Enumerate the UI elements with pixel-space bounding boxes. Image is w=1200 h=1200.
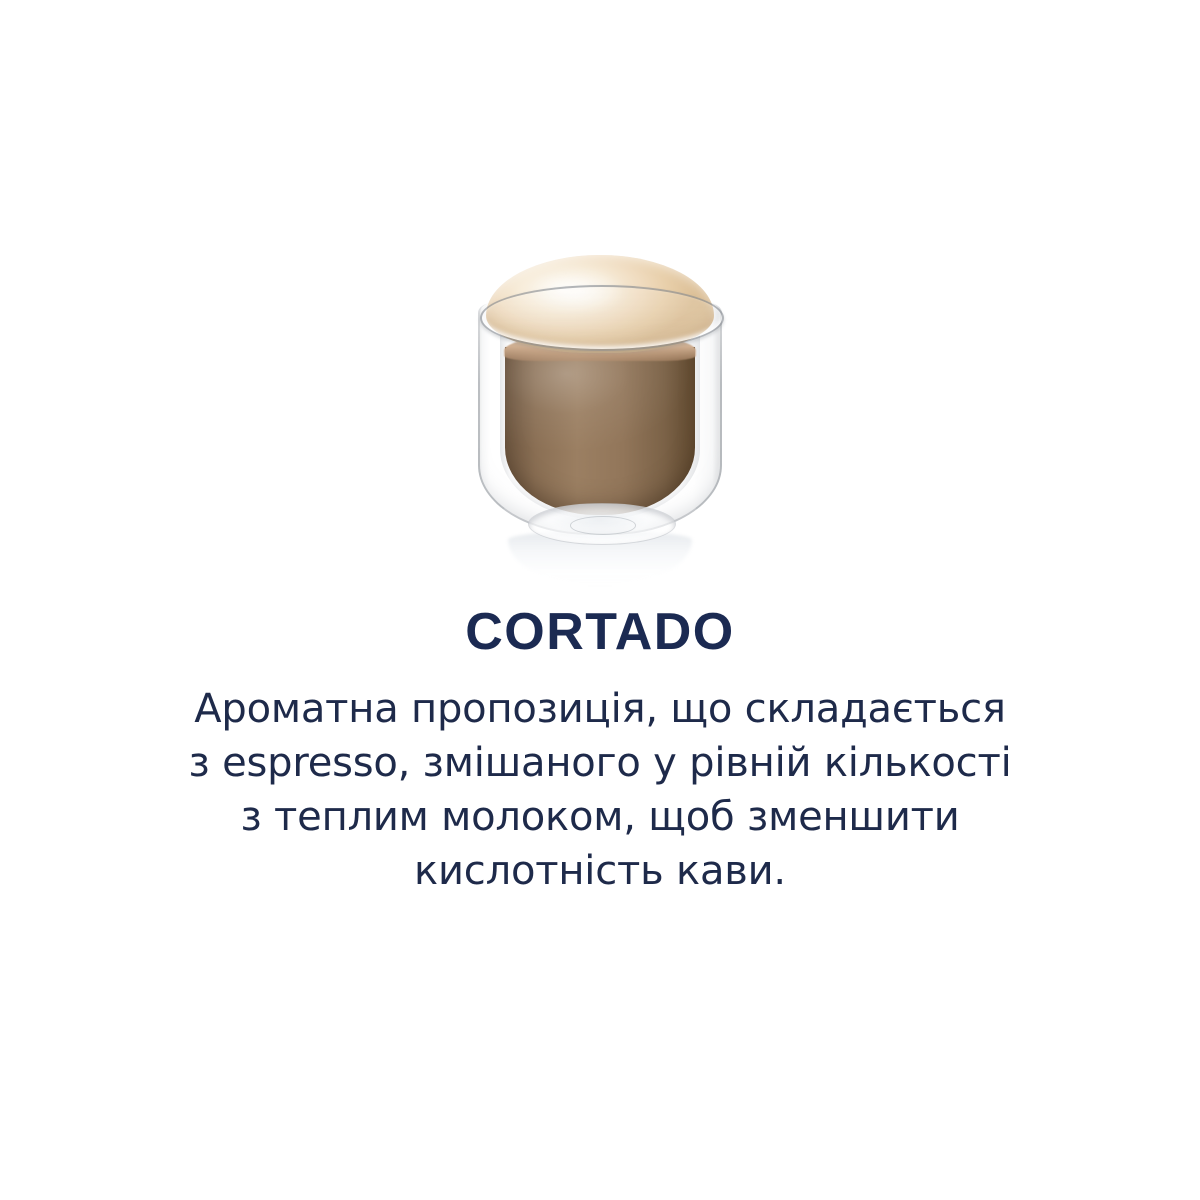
page-title: CORTADO [0,600,1200,664]
description-line-1: Ароматна пропозиція, що складається [0,682,1200,736]
description-line-2: з espresso, змішаного у рівній кількості [0,736,1200,790]
description-line-4: кислотність кави. [0,844,1200,898]
cortado-glass-cup [472,255,728,585]
glass-rim [480,285,724,351]
coffee-liquid [505,347,695,515]
product-card: CORTADO Ароматна пропозиція, що складаєт… [0,0,1200,1200]
glass-base [528,503,676,545]
product-text-block: CORTADO Ароматна пропозиція, що складаєт… [0,600,1200,898]
description-line-3: з теплим молоком, щоб зменшити [0,790,1200,844]
product-description: Ароматна пропозиція, що складається з es… [0,682,1200,898]
product-image-figure [0,0,1200,600]
